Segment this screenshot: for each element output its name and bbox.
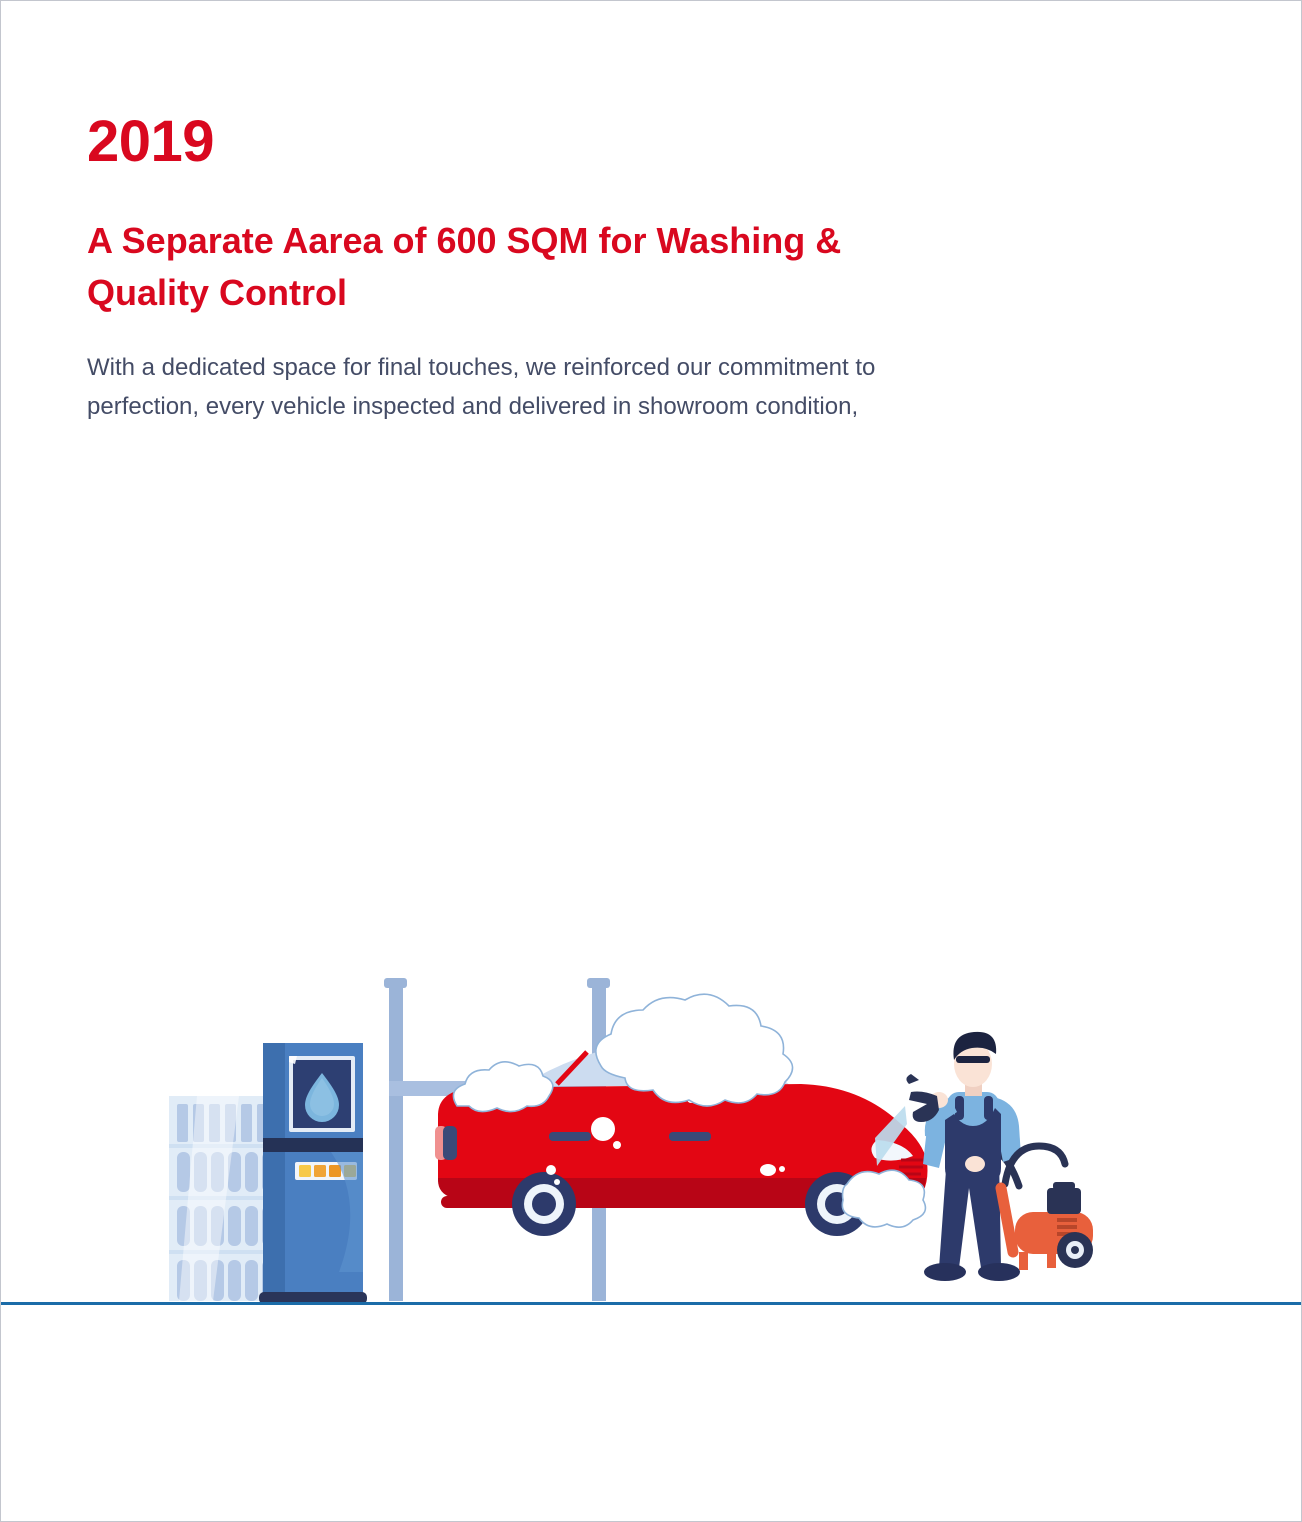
car-wheel-rear [512,1172,576,1236]
air-compressor-icon [1001,1146,1093,1270]
dispenser-button-3 [329,1165,341,1177]
page-title: A Separate Aarea of 600 SQM for Washing … [87,215,847,319]
bottle-cabinet-icon [169,1096,277,1301]
dispenser-button-1 [299,1165,311,1177]
water-dispenser-icon [259,1043,367,1304]
car-wash-illustration [1,956,1301,1316]
ground-line [1,1302,1301,1305]
page-canvas: 2019 A Separate Aarea of 600 SQM for Was… [0,0,1302,1522]
text-block: 2019 A Separate Aarea of 600 SQM for Was… [87,113,967,427]
body-paragraph: With a dedicated space for final touches… [87,349,937,427]
year-heading: 2019 [87,113,967,171]
dispenser-button-2 [314,1165,326,1177]
